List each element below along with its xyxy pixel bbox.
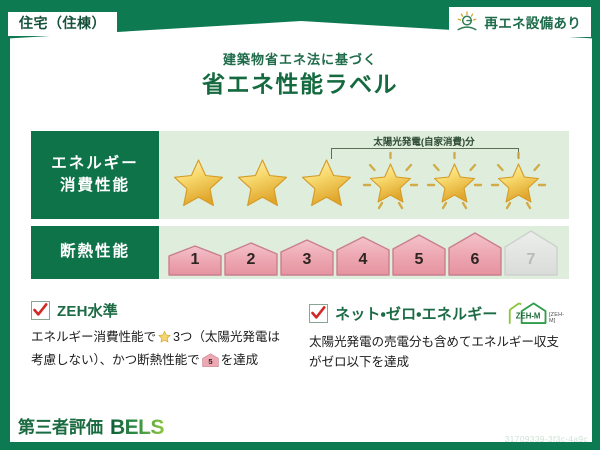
star-rating-area: 太陽光発電(自家消費)分 bbox=[159, 131, 569, 219]
check-icon bbox=[311, 305, 326, 321]
solar-annotation-label: 太陽光発電(自家消費)分 bbox=[331, 134, 517, 148]
inline-house-badge: 5 bbox=[202, 353, 219, 374]
star-icon bbox=[295, 151, 358, 213]
document-id: 31709339-3f3c-4a9c bbox=[444, 434, 588, 444]
insulation-level-strip: 1 2 3 bbox=[167, 229, 559, 276]
renewable-badge-label: 再エネ設備あり bbox=[484, 12, 581, 32]
net-zero-checkbox[interactable] bbox=[309, 304, 328, 323]
insulation-label-text: 断熱性能 bbox=[60, 243, 130, 262]
performance-rows: エネルギー 消費性能 太陽光発電(自家消費)分 bbox=[31, 131, 569, 286]
insulation-row-panel: 1 2 3 bbox=[159, 226, 569, 279]
insulation-level-house: 5 bbox=[391, 233, 447, 276]
star-solar-icon bbox=[359, 151, 422, 213]
criterion-net-zero: ネット・ゼロ・エネルギー ZEH-M [ZEH-M] 太陽光発電の売電分も含めて… bbox=[309, 300, 569, 373]
insulation-level-number: 7 bbox=[503, 251, 559, 269]
third-party-label: 第三者評価 bbox=[18, 419, 103, 436]
energy-row-label: エネルギー 消費性能 bbox=[31, 131, 159, 219]
star-icon bbox=[231, 151, 294, 213]
criterion-zeh-header: ZEH水準 bbox=[31, 300, 291, 321]
criterion-zeh-body: エネルギー消費性能で3つ（太陽光発電は考慮しない）、かつ断熱性能で5を達成 bbox=[31, 328, 291, 373]
insulation-level-number: 1 bbox=[167, 251, 223, 269]
title-main: 省エネ性能ラベル bbox=[0, 71, 600, 99]
insulation-row-label: 断熱性能 bbox=[31, 226, 159, 279]
insulation-level-house-inactive: 7 bbox=[503, 229, 559, 276]
star-strip bbox=[167, 151, 550, 213]
insulation-level-house: 1 bbox=[167, 244, 223, 276]
criterion-net-zero-title: ネット・ゼロ・エネルギー bbox=[335, 303, 498, 324]
insulation-level-number: 2 bbox=[223, 251, 279, 269]
solar-sun-icon bbox=[455, 11, 479, 33]
svg-text:5: 5 bbox=[208, 357, 212, 366]
bels-number: 0285908-01 bbox=[198, 427, 261, 439]
bels-block: 第三者評価 BELS bbox=[10, 414, 172, 442]
title-block: 建築物省エネ法に基づく 省エネ性能ラベル bbox=[0, 52, 600, 98]
star-solar-icon bbox=[423, 151, 486, 213]
building-type-chip: 住宅（住棟） bbox=[8, 12, 117, 36]
criterion-zeh-body-pre: エネルギー消費性能で bbox=[31, 330, 156, 344]
criteria-section: ZEH水準 エネルギー消費性能で3つ（太陽光発電は考慮しない）、かつ断熱性能で5… bbox=[31, 300, 569, 373]
footer: 第三者評価 BELS 0285908-01 評価日 2025年12月18日 31… bbox=[0, 402, 600, 450]
energy-performance-label: 住宅（住棟） 再エネ設備あり 建築物省エネ法に基づく 省エネ性能ラベル bbox=[0, 0, 600, 450]
renewable-equipment-badge: 再エネ設備あり bbox=[449, 7, 591, 37]
star-icon bbox=[167, 151, 230, 213]
insulation-performance-row: 断熱性能 bbox=[31, 226, 569, 279]
zeh-m-logo: ZEH-M [ZEH-M] bbox=[507, 300, 569, 326]
insulation-level-house: 6 bbox=[447, 231, 503, 276]
insulation-level-number: 5 bbox=[391, 251, 447, 269]
star-solar-icon bbox=[487, 151, 550, 213]
zeh-m-logo-text: ZEH-M bbox=[515, 312, 540, 321]
insulation-level-number: 3 bbox=[279, 251, 335, 269]
inline-star-icon bbox=[157, 329, 172, 351]
bels-logo-text: BELS bbox=[110, 417, 164, 438]
criterion-net-zero-header: ネット・ゼロ・エネルギー ZEH-M [ZEH-M] bbox=[309, 300, 569, 326]
insulation-level-number: 6 bbox=[447, 251, 503, 269]
title-subtitle: 建築物省エネ法に基づく bbox=[0, 52, 600, 68]
energy-performance-row: エネルギー 消費性能 太陽光発電(自家消費)分 bbox=[31, 131, 569, 219]
energy-label-line2: 消費性能 bbox=[60, 175, 130, 197]
criterion-zeh-body-post: を達成 bbox=[221, 353, 258, 367]
insulation-level-house: 4 bbox=[335, 235, 391, 276]
criterion-zeh-title: ZEH水準 bbox=[57, 300, 118, 321]
insulation-level-number: 4 bbox=[335, 251, 391, 269]
zeh-m-logo-caption: [ZEH-M] bbox=[549, 312, 569, 326]
footer-meta: 評価日 2025年12月18日 31709339-3f3c-4a9c bbox=[444, 416, 588, 444]
insulation-level-house: 3 bbox=[279, 238, 335, 276]
criterion-net-zero-body: 太陽光発電の売電分も含めてエネルギー収支がゼロ以下を達成 bbox=[309, 333, 569, 372]
criterion-zeh: ZEH水準 エネルギー消費性能で3つ（太陽光発電は考慮しない）、かつ断熱性能で5… bbox=[31, 300, 291, 373]
energy-label-line1: エネルギー bbox=[51, 153, 139, 175]
check-icon bbox=[33, 302, 48, 318]
energy-row-panel: 太陽光発電(自家消費)分 bbox=[159, 131, 569, 219]
evaluation-date: 評価日 2025年12月18日 bbox=[444, 416, 588, 432]
insulation-level-house: 2 bbox=[223, 241, 279, 276]
zeh-checkbox[interactable] bbox=[31, 301, 50, 320]
